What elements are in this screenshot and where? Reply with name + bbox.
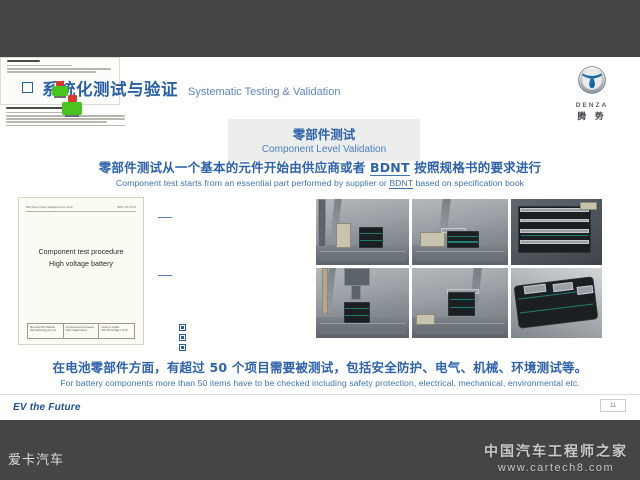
page-title-en: Systematic Testing & Validation [188, 86, 340, 98]
statement-top-cn-highlight: BDNT [370, 160, 410, 176]
document-footer-cell: Version 1.0 Date: 2012.05.14 Page 1 of 4… [99, 324, 134, 338]
connector-dash [158, 275, 172, 276]
logo-wordmark-cn: 腾 势 [560, 110, 624, 122]
battery-crush-test-photo-grid [316, 199, 604, 341]
statement-bottom-cn: 在电池零部件方面，有超过 50 个项目需要被测试，包括安全防护、电气、机械、环境… [0, 357, 640, 376]
watermark-left: 爱卡汽车 [8, 449, 64, 468]
document-header-right: BDS / DS 70-01 [118, 206, 136, 209]
slide-footer: EV the Future 11 [0, 394, 640, 420]
statement-top-cn-after: 按照规格书的要求进行 [410, 160, 542, 175]
blue-dot-icon [180, 325, 185, 330]
fragment-body-rule [6, 121, 107, 123]
slide-canvas: 系统化测试与验证 Systematic Testing & Validation [0, 57, 640, 420]
watermark-right-url: www.cartech8.com [484, 462, 628, 474]
statement-top-en-after: based on specification book [413, 178, 524, 188]
blue-dot-icon [180, 345, 185, 350]
component-test-procedure-document: BDS Spec Project Voltage/Current name BD… [18, 197, 144, 345]
denza-logo: DENZA 腾 势 [560, 65, 624, 122]
statement-top-cn: 零部件测试从一个基本的元件开始由供应商或者 BDNT 按照规格书的要求进行 [0, 157, 640, 176]
document-footer-table: Shenzhen BYD Daimler New Technology Co.,… [27, 323, 135, 339]
fragment-subheading-rule [7, 65, 72, 67]
photo-pack-on-platform-after-crush [412, 268, 508, 338]
fragment-body-rule [7, 68, 111, 70]
vertical-blue-dots [180, 325, 185, 350]
photo-battery-pack-side-view-on-platform [412, 199, 508, 265]
document-footer-cell: Shenzhen BYD Daimler New Technology Co.,… [28, 324, 64, 338]
statement-bottom-en: For battery components more than 50 item… [0, 378, 640, 388]
statement-top-cn-before: 零部件测试从一个基本的元件开始由供应商或者 [99, 160, 370, 175]
logo-wordmark: DENZA [560, 102, 624, 109]
fragment-body-rule [6, 125, 125, 127]
hollow-square-icon [22, 82, 33, 93]
footer-brand: EV the Future [13, 402, 81, 413]
document-title-line1: Component test procedure [19, 246, 143, 258]
watermark-right-cn: 中国汽车工程师之家 [484, 441, 628, 461]
photo-pack-under-crush-ram [316, 268, 409, 338]
page-number-box: 11 [600, 399, 626, 412]
section-title-en: Component Level Validation [228, 144, 420, 155]
statement-top-en-before: Component test starts from an essential … [116, 178, 389, 188]
section-title-cn: 零部件测试 [228, 124, 420, 143]
document-header-row: BDS Spec Project Voltage/Current name BD… [26, 206, 136, 212]
fragment-body-rule [6, 118, 125, 120]
document-footer-cell: Component test procedure High voltage ba… [64, 324, 100, 338]
fragment-body-rule [7, 71, 96, 73]
document-title: Component test procedure High voltage ba… [19, 246, 143, 270]
document-title-line2: High voltage battery [19, 258, 143, 270]
blue-dot-icon [180, 335, 185, 340]
statement-top: 零部件测试从一个基本的元件开始由供应商或者 BDNT 按照规格书的要求进行 Co… [0, 157, 640, 188]
photo-deformed-battery-pack-closeup [511, 268, 602, 338]
image-viewer: 系统化测试与验证 Systematic Testing & Validation [0, 0, 640, 480]
photo-crushed-module-stack-top-view [511, 199, 602, 265]
statement-bottom: 在电池零部件方面，有超过 50 个项目需要被测试，包括安全防护、电气、机械、环境… [0, 357, 640, 388]
statement-top-en-highlight: BDNT [389, 178, 413, 189]
document-header-left: BDS Spec Project Voltage/Current name [26, 206, 73, 209]
denza-emblem-icon [577, 65, 607, 95]
fragment-heading-rule [7, 60, 40, 62]
watermark-right: 中国汽车工程师之家 www.cartech8.com [484, 441, 628, 474]
connector-dash [158, 217, 172, 218]
photo-module-on-test-rig-front [316, 199, 409, 265]
green-battery-test-thumb [62, 95, 82, 117]
section-title-box: 零部件测试 Component Level Validation [228, 119, 420, 161]
statement-top-en: Component test starts from an essential … [0, 178, 640, 188]
